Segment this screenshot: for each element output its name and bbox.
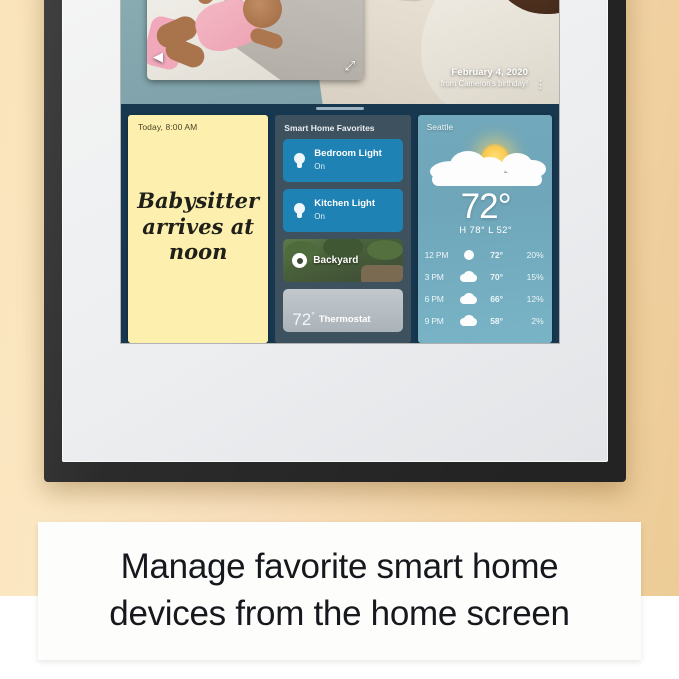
thermostat-label: Thermostat bbox=[319, 314, 371, 325]
forecast-precip: 2% bbox=[512, 316, 544, 326]
thermostat-temp-value: 72 bbox=[292, 310, 311, 329]
tile-texts: Bedroom Light On bbox=[314, 149, 382, 171]
cloud-icon bbox=[456, 292, 482, 306]
sticky-note-widget[interactable]: Today, 8:00 AM Babysitter arrives at noo… bbox=[128, 115, 268, 343]
cloud-icon bbox=[456, 314, 482, 328]
forecast-temp: 66° bbox=[482, 294, 512, 304]
smart-home-tile-thermostat[interactable]: 72° Thermostat bbox=[283, 289, 402, 332]
weather-city: Seattle bbox=[427, 122, 453, 132]
tile-state: On bbox=[314, 212, 375, 221]
smart-home-title: Smart Home Favorites bbox=[275, 115, 410, 139]
lightbulb-icon bbox=[294, 203, 305, 219]
device-screen: ✕ ◀ ⤢ February 4, 2020 from Cameron's bi… bbox=[121, 0, 559, 343]
patio bbox=[361, 265, 402, 282]
weather-temperature: 72° bbox=[418, 187, 552, 227]
forecast-row: 6 PM 66° 12% bbox=[425, 289, 547, 309]
baby-camera-video-inset[interactable]: ✕ ◀ ⤢ bbox=[147, 0, 363, 80]
shrub bbox=[367, 240, 402, 260]
degree-symbol: ° bbox=[311, 310, 315, 320]
mute-icon[interactable]: ◀ bbox=[153, 50, 163, 63]
weather-widget[interactable]: Seattle 72° H 78° L 52° 1 bbox=[418, 115, 552, 343]
tile-state: On bbox=[314, 162, 382, 171]
widget-row: Today, 8:00 AM Babysitter arrives at noo… bbox=[128, 110, 552, 343]
forecast-precip: 20% bbox=[512, 250, 544, 260]
sun-icon bbox=[456, 248, 482, 262]
cloud-base bbox=[432, 173, 542, 186]
thermostat-temp: 72° bbox=[292, 311, 315, 328]
tile-texts: Kitchen Light On bbox=[314, 199, 375, 221]
forecast-precip: 15% bbox=[512, 272, 544, 282]
forecast-time: 6 PM bbox=[425, 294, 456, 304]
echo-show-device: ✕ ◀ ⤢ February 4, 2020 from Cameron's bi… bbox=[44, 0, 626, 482]
forecast-precip: 12% bbox=[512, 294, 544, 304]
lightbulb-icon bbox=[294, 153, 305, 169]
photo-subtitle: from Cameron's birthday! bbox=[441, 79, 528, 88]
tile-name: Kitchen Light bbox=[314, 199, 375, 210]
forecast-row: 9 PM 58° 2% bbox=[425, 311, 547, 331]
smart-home-tile-list: Bedroom Light On Kitchen Light On bbox=[275, 139, 410, 332]
cloud-icon bbox=[456, 270, 482, 284]
tile-name: Bedroom Light bbox=[314, 149, 382, 160]
photo-background: ✕ ◀ ⤢ February 4, 2020 from Cameron's bi… bbox=[121, 0, 559, 104]
camera-icon bbox=[292, 253, 307, 268]
smart-home-tile-kitchen-light[interactable]: Kitchen Light On bbox=[283, 189, 402, 232]
photo-date: February 4, 2020 bbox=[441, 67, 528, 78]
more-options-icon[interactable]: ⋮ bbox=[535, 82, 546, 88]
forecast-temp: 58° bbox=[482, 316, 512, 326]
caption-line-1: Manage favorite smart home bbox=[121, 544, 559, 591]
expand-icon[interactable]: ⤢ bbox=[345, 59, 355, 72]
weather-high-low: H 78° L 52° bbox=[418, 225, 552, 236]
smart-home-tile-bedroom-light[interactable]: Bedroom Light On bbox=[283, 139, 402, 182]
forecast-time: 3 PM bbox=[425, 272, 456, 282]
forecast-time: 12 PM bbox=[425, 250, 456, 260]
note-timestamp: Today, 8:00 AM bbox=[128, 115, 268, 132]
forecast-temp: 70° bbox=[482, 272, 512, 282]
drag-handle[interactable] bbox=[316, 107, 364, 110]
forecast-row: 3 PM 70° 15% bbox=[425, 267, 547, 287]
tile-name: Backyard bbox=[313, 255, 358, 266]
caption-card: Manage favorite smart home devices from … bbox=[38, 522, 641, 660]
photo-caption: February 4, 2020 from Cameron's birthday… bbox=[441, 67, 528, 88]
caption-line-2: devices from the home screen bbox=[109, 591, 569, 638]
note-text: Babysitter arrives at noon bbox=[128, 132, 268, 343]
widget-panel: Today, 8:00 AM Babysitter arrives at noo… bbox=[121, 104, 559, 343]
forecast-temp: 72° bbox=[482, 250, 512, 260]
weather-hourly-forecast: 12 PM 72° 20% 3 PM 70° 15% 6 PM bbox=[425, 245, 547, 331]
smart-home-tile-backyard-camera[interactable]: Backyard bbox=[283, 239, 402, 282]
smart-home-favorites-widget: Smart Home Favorites Bedroom Light On bbox=[275, 115, 410, 343]
forecast-row: 12 PM 72° 20% bbox=[425, 245, 547, 265]
forecast-time: 9 PM bbox=[425, 316, 456, 326]
